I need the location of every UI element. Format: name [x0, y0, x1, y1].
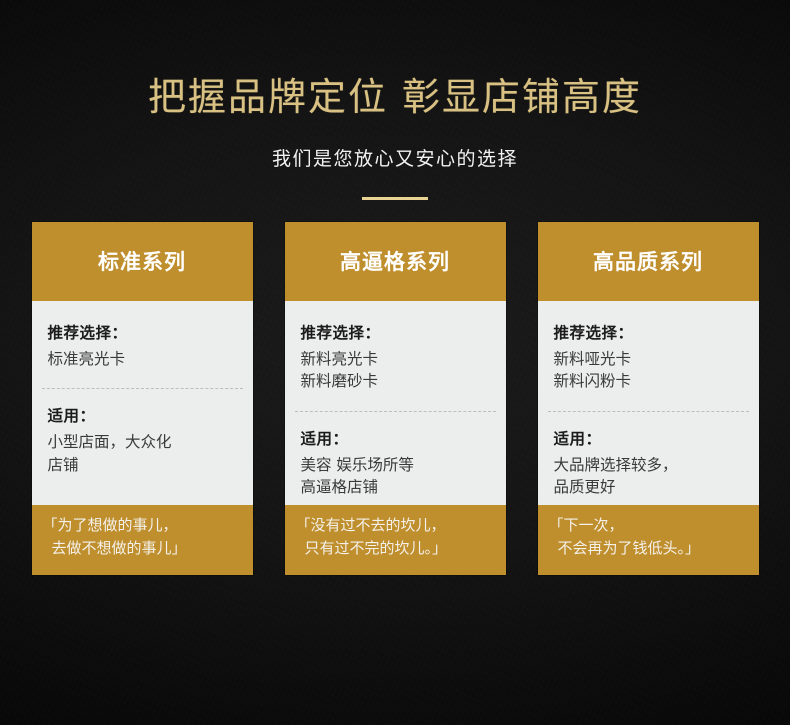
suitable-value: 大品牌选择较多， — [554, 454, 745, 476]
section-divider — [295, 411, 496, 412]
suitable-section: 适用： 美容 娱乐场所等 高逼格店铺 — [285, 428, 506, 499]
recommend-label: 推荐选择： — [301, 322, 492, 345]
card-quote: 「下一次， 不会再为了钱低头。」 — [549, 514, 749, 561]
section-divider — [548, 411, 749, 412]
suitable-value: 店铺 — [48, 454, 239, 476]
series-card-premium-style[interactable]: 高逼格系列 推荐选择： 新料亮光卡 新料磨砂卡 适用： 美容 娱乐场所等 高逼格… — [285, 222, 506, 575]
card-title: 高逼格系列 — [340, 246, 450, 276]
suitable-value: 品质更好 — [554, 476, 745, 498]
card-footer: 「为了想做的事儿， 去做不想做的事儿」 — [32, 505, 253, 575]
title-divider — [362, 197, 428, 200]
recommend-section: 推荐选择： 标准亮光卡 — [32, 322, 253, 371]
card-body: 推荐选择： 新料亮光卡 新料磨砂卡 适用： 美容 娱乐场所等 高逼格店铺 — [285, 301, 506, 505]
suitable-label: 适用： — [301, 428, 492, 451]
section-divider — [42, 388, 243, 389]
recommend-label: 推荐选择： — [554, 322, 745, 345]
card-quote: 「没有过不去的坎儿， 只有过不完的坎儿。」 — [296, 514, 496, 561]
card-title: 标准系列 — [98, 246, 186, 276]
suitable-values: 美容 娱乐场所等 高逼格店铺 — [301, 454, 492, 499]
series-card-standard[interactable]: 标准系列 推荐选择： 标准亮光卡 适用： 小型店面，大众化 店铺 — [32, 222, 253, 575]
page-subtitle: 我们是您放心又安心的选择 — [0, 144, 790, 171]
body-spacer — [32, 476, 253, 504]
recommend-values: 新料哑光卡 新料闪粉卡 — [554, 348, 745, 393]
suitable-value: 高逼格店铺 — [301, 476, 492, 498]
recommend-value: 新料闪粉卡 — [554, 370, 745, 392]
suitable-label: 适用： — [48, 405, 239, 428]
quote-line: 只有过不完的坎儿。」 — [296, 537, 496, 560]
card-header: 高逼格系列 — [285, 222, 506, 301]
card-body: 推荐选择： 新料哑光卡 新料闪粉卡 适用： 大品牌选择较多， 品质更好 — [538, 301, 759, 505]
quote-line: 不会再为了钱低头。」 — [549, 537, 749, 560]
card-header: 高品质系列 — [538, 222, 759, 301]
recommend-label: 推荐选择： — [48, 322, 239, 345]
suitable-section: 适用： 大品牌选择较多， 品质更好 — [538, 428, 759, 499]
promo-page: 把握品牌定位 彰显店铺高度 我们是您放心又安心的选择 标准系列 推荐选择： 标准… — [0, 0, 790, 725]
suitable-value: 小型店面，大众化 — [48, 431, 239, 453]
suitable-values: 大品牌选择较多， 品质更好 — [554, 454, 745, 499]
suitable-section: 适用： 小型店面，大众化 店铺 — [32, 405, 253, 476]
suitable-label: 适用： — [554, 428, 745, 451]
recommend-value: 新料亮光卡 — [301, 348, 492, 370]
recommend-section: 推荐选择： 新料哑光卡 新料闪粉卡 — [538, 322, 759, 393]
series-card-high-quality[interactable]: 高品质系列 推荐选择： 新料哑光卡 新料闪粉卡 适用： 大品牌选择较多， 品质更… — [538, 222, 759, 575]
recommend-value: 新料哑光卡 — [554, 348, 745, 370]
page-title: 把握品牌定位 彰显店铺高度 — [0, 74, 790, 122]
suitable-value: 美容 娱乐场所等 — [301, 454, 492, 476]
hero-section: 把握品牌定位 彰显店铺高度 我们是您放心又安心的选择 — [0, 0, 790, 200]
card-footer: 「下一次， 不会再为了钱低头。」 — [538, 505, 759, 575]
card-footer: 「没有过不去的坎儿， 只有过不完的坎儿。」 — [285, 505, 506, 575]
quote-line: 「为了想做的事儿， — [43, 514, 243, 537]
quote-line: 「没有过不去的坎儿， — [296, 514, 496, 537]
series-card-list: 标准系列 推荐选择： 标准亮光卡 适用： 小型店面，大众化 店铺 — [32, 222, 759, 575]
card-body: 推荐选择： 标准亮光卡 适用： 小型店面，大众化 店铺 — [32, 301, 253, 505]
recommend-values: 标准亮光卡 — [48, 348, 239, 370]
card-quote: 「为了想做的事儿， 去做不想做的事儿」 — [43, 514, 243, 561]
recommend-section: 推荐选择： 新料亮光卡 新料磨砂卡 — [285, 322, 506, 393]
card-header: 标准系列 — [32, 222, 253, 301]
card-title: 高品质系列 — [593, 246, 703, 276]
recommend-value: 标准亮光卡 — [48, 348, 239, 370]
quote-line: 「下一次， — [549, 514, 749, 537]
recommend-value: 新料磨砂卡 — [301, 370, 492, 392]
quote-line: 去做不想做的事儿」 — [43, 537, 243, 560]
suitable-values: 小型店面，大众化 店铺 — [48, 431, 239, 476]
recommend-values: 新料亮光卡 新料磨砂卡 — [301, 348, 492, 393]
